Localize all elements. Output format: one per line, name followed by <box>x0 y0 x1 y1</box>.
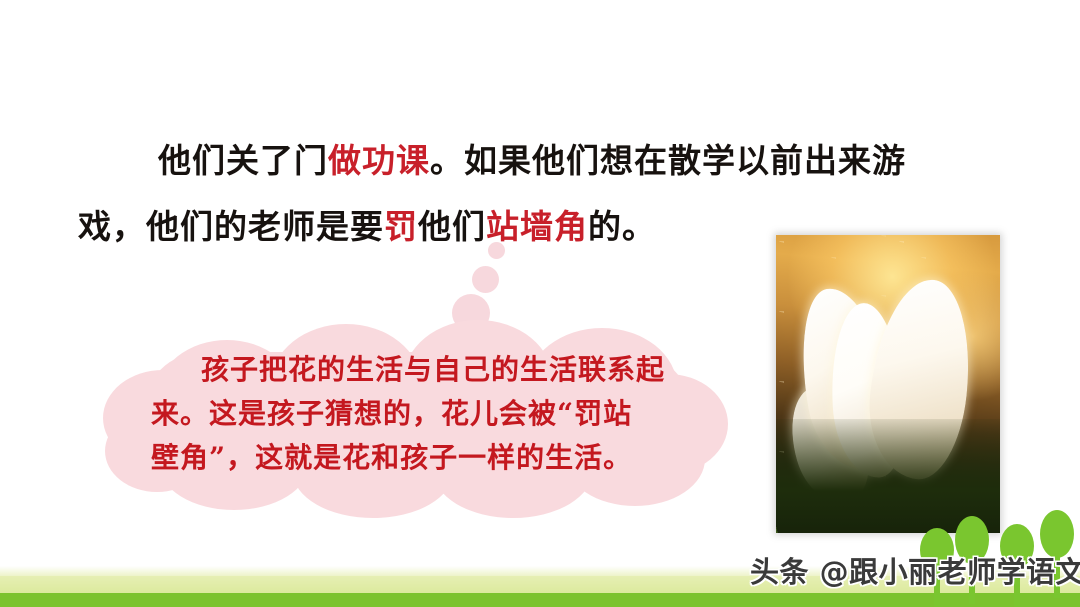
lesson-line-2-part-c: 他们 <box>418 207 486 246</box>
lesson-line-1: 他们关了门做功课。如果他们想在散学以前出来游 <box>78 128 978 194</box>
flower-photo <box>776 235 1000 533</box>
thought-bubble-dot-medium <box>472 266 499 293</box>
cloud-line-2: 来。这是孩子猜想的，花儿会被“罚站 <box>151 392 696 436</box>
watermark-text: 头条 @跟小丽老师学语文 <box>750 549 1080 591</box>
cloud-line-3: 壁角”，这就是花和孩子一样的生活。 <box>151 436 696 480</box>
slide-canvas: 他们关了门做功课。如果他们想在散学以前出来游 戏，他们的老师是要罚他们站墙角的。 <box>0 0 1080 607</box>
cloud-callout: 孩子把花的生活与自己的生活联系起 来。这是孩子猜想的，花儿会被“罚站 壁角”，这… <box>103 318 728 518</box>
lesson-line-2-part-e: 的。 <box>588 207 656 246</box>
lesson-highlight-zhanqiangjiao: 站墙角 <box>486 207 588 246</box>
thought-bubble-dot-small <box>488 242 505 259</box>
lesson-highlight-zuogongke: 做功课 <box>328 141 430 180</box>
lesson-line-1-part-c: 。如果他们想在散学以前出来游 <box>430 141 906 180</box>
lesson-line-2-part-a: 戏，他们的老师是要 <box>78 207 384 246</box>
cloud-callout-text: 孩子把花的生活与自己的生活联系起 来。这是孩子猜想的，花儿会被“罚站 壁角”，这… <box>151 348 696 480</box>
lesson-highlight-fa: 罚 <box>384 207 418 246</box>
cloud-line-1: 孩子把花的生活与自己的生活联系起 <box>151 348 696 392</box>
lesson-line-1-part-a: 他们关了门 <box>158 141 328 180</box>
band-bright-green <box>0 593 1080 607</box>
photo-background <box>776 235 1000 533</box>
